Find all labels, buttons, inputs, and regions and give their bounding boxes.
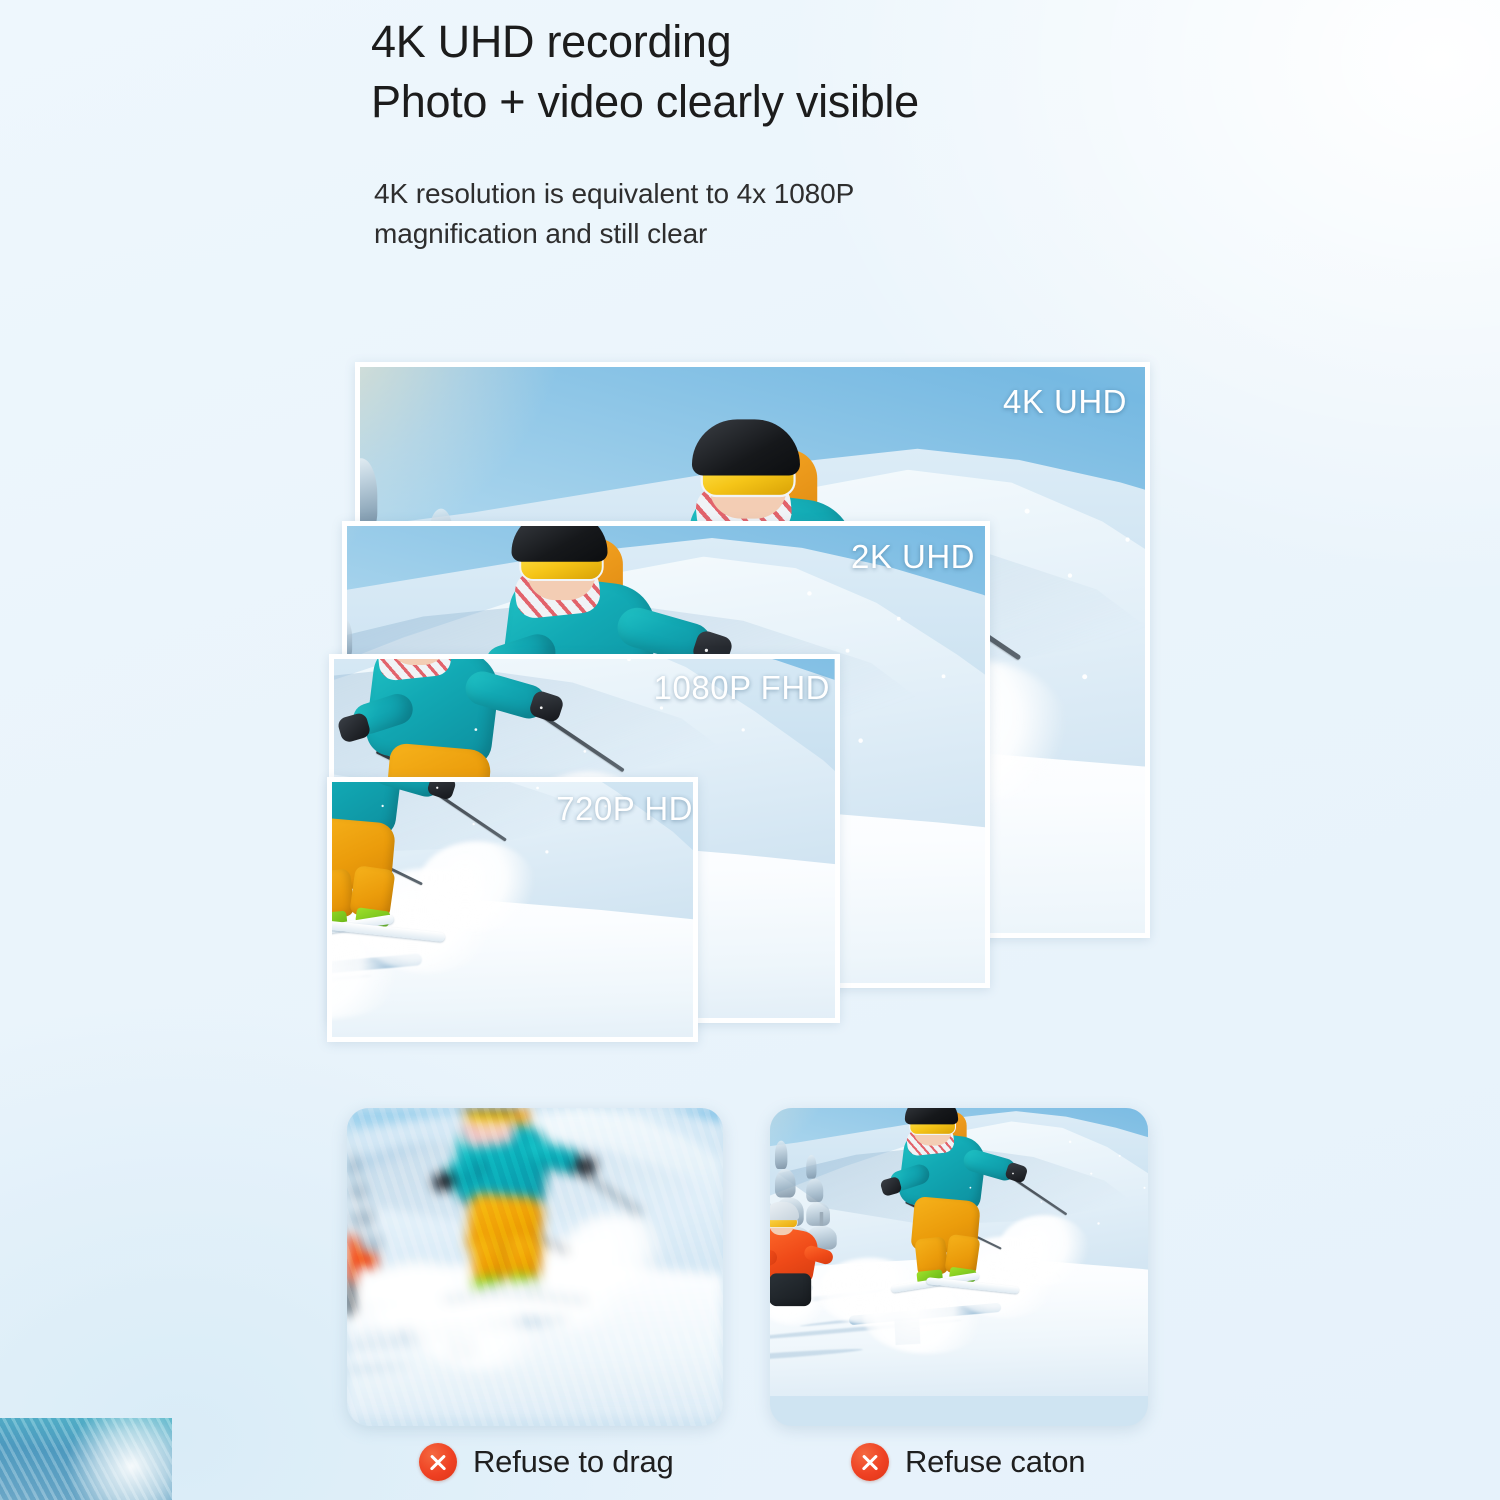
- snow-flake: [436, 787, 438, 789]
- snow-flake: [627, 657, 631, 661]
- resolution-label-2k: 2K UHD: [851, 538, 975, 576]
- snow-flake: [1090, 1173, 1092, 1175]
- snow-flake: [545, 850, 548, 853]
- caption-right-label: Refuse caton: [905, 1444, 1085, 1480]
- motion-streak-overlay: [347, 1108, 723, 1426]
- caption-left-label: Refuse to drag: [473, 1444, 674, 1480]
- skier-primary: [863, 1108, 1048, 1293]
- snow-flake: [1143, 1187, 1145, 1189]
- snow-flake: [475, 728, 478, 731]
- snow-flake: [1082, 674, 1087, 679]
- snow-flake: [970, 1187, 972, 1189]
- snow-flake: [807, 591, 811, 595]
- corner-image-bleed: [0, 1418, 172, 1500]
- caption-refuse-caton: Refuse caton: [851, 1443, 1085, 1481]
- snow-flake: [540, 706, 543, 709]
- snow-flake: [897, 617, 901, 621]
- snow-flake: [1041, 1201, 1043, 1203]
- snow-flake: [1069, 1141, 1071, 1143]
- snow-flake: [942, 674, 946, 678]
- snow-flake: [1125, 537, 1129, 541]
- resolution-label-1080p: 1080P FHD: [654, 669, 830, 707]
- ski-scene-sharp: [770, 1108, 1148, 1386]
- snow-flake: [1012, 1173, 1014, 1175]
- snow-flake: [1025, 509, 1030, 514]
- snow-flake: [705, 649, 708, 652]
- snow-flake: [473, 823, 475, 825]
- snow-flake: [1097, 1222, 1099, 1224]
- snow-flake: [382, 805, 384, 807]
- snow-flake: [1119, 1155, 1121, 1157]
- skier-primary: [327, 777, 482, 941]
- snow-flake: [1068, 573, 1072, 577]
- x-circle-icon: [419, 1443, 457, 1481]
- resolution-panel-720p: 720P HD: [327, 777, 698, 1042]
- skier-secondary: [770, 1201, 845, 1315]
- snow-flake: [536, 787, 539, 790]
- comparison-card-blurred: [347, 1108, 723, 1426]
- comparison-card-sharp: [770, 1108, 1148, 1426]
- snow-flake: [858, 738, 862, 742]
- snow-flake: [584, 750, 587, 753]
- resolution-label-720p: 720P HD: [556, 790, 693, 828]
- x-circle-icon: [851, 1443, 889, 1481]
- snow-flake: [742, 728, 745, 731]
- resolution-label-4k: 4K UHD: [1003, 383, 1127, 421]
- snow-flake: [846, 649, 850, 653]
- caption-refuse-to-drag: Refuse to drag: [419, 1443, 674, 1481]
